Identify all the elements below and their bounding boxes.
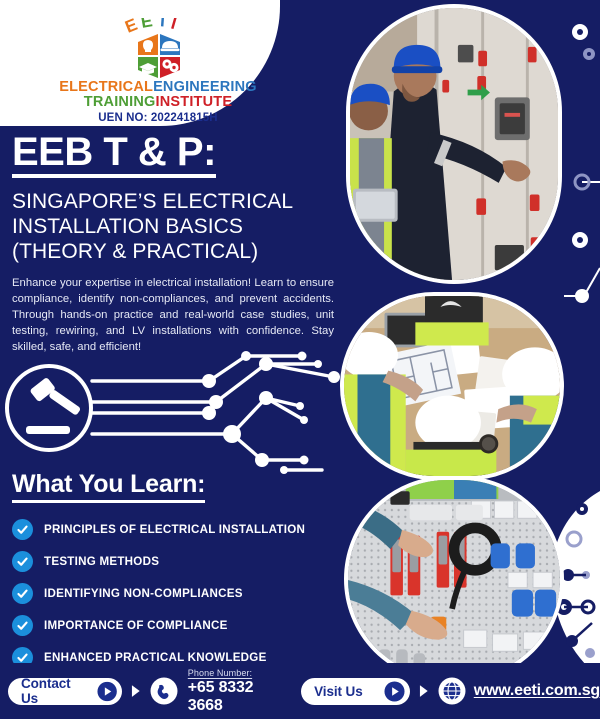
page-subtitle: SINGAPORE’S ELECTRICAL INSTALLATION BASI… [12,190,336,264]
photo-electricians-switchgear [346,4,562,284]
what-you-learn-section: What You Learn: PRINCIPLES OF ELECTRICAL… [12,470,352,668]
list-item-label: PRINCIPLES OF ELECTRICAL INSTALLATION [44,523,305,536]
check-icon [12,583,33,604]
svg-text:T: T [157,18,169,31]
list-item-label: IDENTIFYING NON-COMPLIANCES [44,587,243,600]
brand-name-line1: ELECTRICALENGINEERING [59,80,257,95]
globe-icon [438,677,466,705]
learn-items-list: PRINCIPLES OF ELECTRICAL INSTALLATION TE… [12,519,352,668]
description-paragraph: Enhance your expertise in electrical ins… [12,275,334,355]
subtitle-line-1: SINGAPORE’S ELECTRICAL [12,190,336,215]
brand-word-training: TRAINING [84,94,156,110]
chevron-right-icon [418,684,430,698]
gavel-circuit-graphic [4,350,354,478]
photo-electrical-components-wall [344,476,564,682]
promotional-poster: E E T I [0,0,600,719]
list-item: IMPORTANCE OF COMPLIANCE [12,615,352,636]
svg-text:E: E [139,18,153,32]
phone-number-value[interactable]: +65 8332 3668 [188,679,289,715]
uen-number: UEN NO: 202241815H [98,112,217,124]
check-icon [12,551,33,572]
list-item-label: TESTING METHODS [44,555,159,568]
brand-word-electrical: ELECTRICAL [59,79,153,95]
contact-us-label: Contact Us [21,676,89,706]
list-item: IDENTIFYING NON-COMPLIANCES [12,583,352,604]
list-item-label: IMPORTANCE OF COMPLIANCE [44,619,228,632]
svg-text:I: I [169,18,179,33]
check-icon [12,615,33,636]
chevron-right-icon [130,684,142,698]
check-icon [12,519,33,540]
phone-icon [150,677,178,705]
phone-number-label: Phone Number: [188,668,289,678]
brand-word-institute: INSTITUTE [155,94,232,110]
eeti-hexagon-logo-icon: E E T I [95,18,221,80]
website-link[interactable]: www.eeti.com.sg [474,682,600,700]
photo-collage [340,0,568,719]
phone-info: Phone Number: +65 8332 3668 [188,668,289,715]
photo-engineers-blueprints [340,292,564,480]
visit-us-button[interactable]: Visit Us [301,678,410,705]
list-item: TESTING METHODS [12,551,352,572]
subtitle-line-2: INSTALLATION BASICS [12,215,336,240]
visit-us-label: Visit Us [314,684,376,699]
subtitle-line-3: (THEORY & PRACTICAL) [12,240,336,265]
section-heading: What You Learn: [12,470,205,503]
arrow-right-icon [384,681,405,702]
brand-word-engineering: ENGINEERING [153,79,257,95]
brand-name-line2: TRAININGINSTITUTE [84,95,232,110]
svg-text:E: E [122,18,140,37]
gavel-icon [26,377,81,434]
brand-logo: E E T I [18,14,298,140]
list-item: PRINCIPLES OF ELECTRICAL INSTALLATION [12,519,352,540]
contact-us-button[interactable]: Contact Us [8,678,122,705]
contact-footer-bar: Contact Us Phone Number: +65 8332 3668 V… [0,663,600,719]
arrow-right-icon [97,681,117,702]
hero-text-block: EEB T & P: SINGAPORE’S ELECTRICAL INSTAL… [0,132,348,355]
